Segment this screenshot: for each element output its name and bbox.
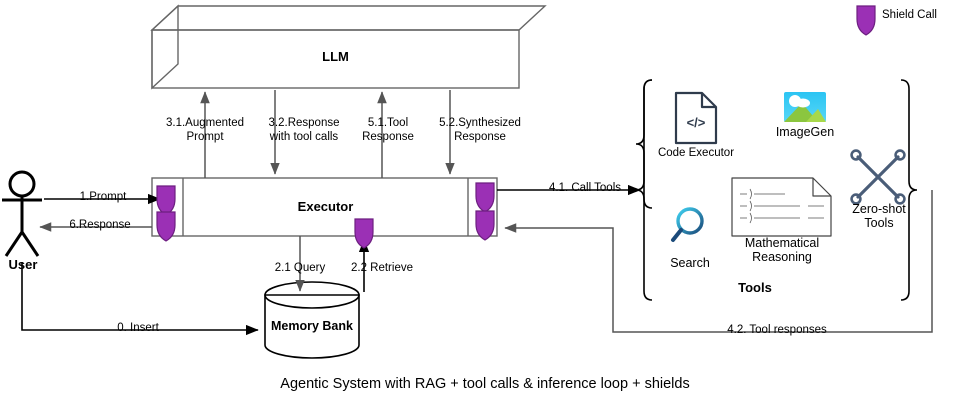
shield-icon-executor-in-1 bbox=[157, 186, 175, 215]
tool-label-math-reasoning: Mathematical Reasoning bbox=[737, 237, 827, 264]
magnifier-icon bbox=[673, 209, 702, 240]
edge-label-5-2-line2: Response bbox=[420, 131, 540, 145]
code-document-icon: </> bbox=[676, 93, 716, 143]
formula-page-icon bbox=[732, 178, 831, 236]
llm-label: LLM bbox=[152, 50, 519, 64]
edge-label-5-2: 5.2.Synthesized Response bbox=[420, 117, 540, 144]
tool-label-code-executor: Code Executor bbox=[650, 147, 742, 161]
edge-label-6-response: 6.Response bbox=[52, 219, 148, 233]
svg-text:</>: </> bbox=[687, 115, 706, 130]
edge-label-0-insert: 0. Insert bbox=[78, 322, 198, 336]
edge-label-4-1-call-tools: 4.1. Call Tools bbox=[530, 182, 640, 196]
shield-icon-legend bbox=[857, 6, 875, 35]
edge-label-1-prompt: 1.Prompt bbox=[58, 191, 148, 205]
edge-label-4-2-tool-responses: 4.2. Tool responses bbox=[712, 324, 842, 338]
edge-label-2-2-retrieve: 2.2 Retrieve bbox=[336, 262, 428, 276]
shield-icon-executor-out-1 bbox=[476, 183, 494, 212]
tool-label-zero-shot: Zero-shot Tools bbox=[841, 203, 917, 230]
user-label: User bbox=[0, 258, 46, 272]
diagram-caption: Agentic System with RAG + tool calls & i… bbox=[0, 376, 970, 392]
memory-bank-label: Memory Bank bbox=[265, 320, 359, 334]
crossed-wrenches-icon bbox=[852, 151, 905, 204]
tool-label-imagegen: ImageGen bbox=[765, 126, 845, 140]
tools-group-label: Tools bbox=[700, 281, 810, 295]
llm-node bbox=[152, 6, 545, 88]
shield-icon-memory-retrieve bbox=[355, 219, 373, 248]
legend-label: Shield Call bbox=[882, 9, 962, 23]
image-icon bbox=[784, 92, 826, 122]
executor-label: Executor bbox=[183, 200, 468, 214]
edge-label-5-2-line1: 5.2.Synthesized bbox=[420, 117, 540, 131]
user-figure bbox=[2, 172, 42, 256]
edge-0-insert bbox=[22, 262, 258, 330]
diagram-canvas: </> bbox=[0, 0, 970, 411]
edge-label-2-1-query: 2.1 Query bbox=[260, 262, 340, 276]
tool-label-search: Search bbox=[660, 257, 720, 271]
